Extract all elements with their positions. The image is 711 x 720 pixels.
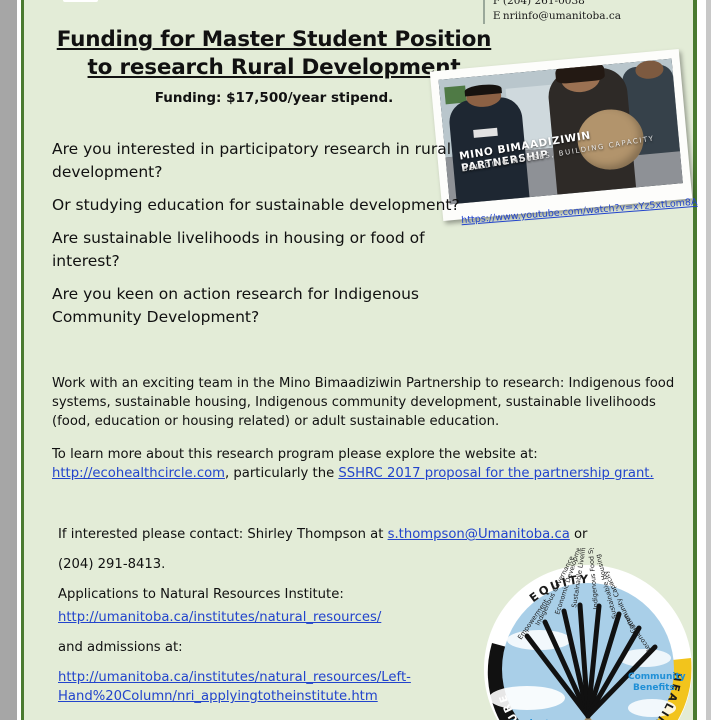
question-1: Are you interested in participatory rese… [52, 138, 472, 184]
community-benefits-line1: Community [628, 672, 686, 682]
left-scroll-gutter[interactable] [0, 0, 17, 720]
flyer-page: F(204) 261-0038 Enriinfo@umanitoba.ca Fu… [21, 0, 697, 720]
medicine-wheel-diagram: Empowerment Indigenous Governance Econom… [467, 548, 709, 720]
email-line: Enriinfo@umanitoba.ca [493, 9, 621, 24]
question-3: Are sustainable livelihoods in housing o… [52, 227, 472, 273]
paragraph-learn-more: To learn more about this research progra… [52, 445, 677, 483]
photo-image: MINO BIMAADIZIWIN PARTNERSHIP BUILDING H… [438, 59, 682, 205]
fax-value: (204) 261-0038 [503, 0, 585, 7]
title-line-1: Funding for Master Student Position [24, 26, 524, 54]
learn-more-mid: , particularly the [225, 466, 338, 481]
question-2: Or studying education for sustainable de… [52, 194, 472, 217]
institute-logo-icon [63, 0, 98, 2]
body-text: Work with an exciting team in the Mino B… [52, 374, 677, 483]
sshrc-proposal-link[interactable]: SSHRC 2017 proposal for the partnership … [338, 466, 653, 481]
header-contact-info: F(204) 261-0038 Enriinfo@umanitoba.ca [483, 0, 621, 24]
document-viewer: F(204) 261-0038 Enriinfo@umanitoba.ca Fu… [0, 0, 711, 720]
contact-lead: If interested please contact: Shirley Th… [58, 527, 388, 542]
wheel-cloud-1 [507, 630, 571, 650]
email-label: E [493, 9, 503, 24]
contact-row: If interested please contact: Shirley Th… [58, 525, 618, 544]
nri-applications-link[interactable]: http://umanitoba.ca/institutes/natural_r… [58, 610, 381, 625]
question-list: Are you interested in participatory rese… [52, 138, 472, 339]
contact-or: or [570, 527, 588, 542]
learn-more-lead: To learn more about this research progra… [52, 447, 538, 462]
shirley-thompson-email-link[interactable]: s.thompson@Umanitoba.ca [388, 527, 570, 542]
community-benefits-line2: Benefits [633, 683, 675, 693]
fax-label: F [493, 0, 503, 9]
question-4: Are you keen on action research for Indi… [52, 283, 472, 329]
paragraph-spacer [52, 431, 677, 445]
email-value: nriinfo@umanitoba.ca [503, 10, 621, 22]
nri-admissions-link[interactable]: http://umanitoba.ca/institutes/natural_r… [58, 670, 411, 704]
ecohealthcircle-link[interactable]: http://ecohealthcircle.com [52, 466, 225, 481]
fax-line: F(204) 261-0038 [493, 0, 621, 9]
paragraph-research-team: Work with an exciting team in the Mino B… [52, 374, 677, 431]
